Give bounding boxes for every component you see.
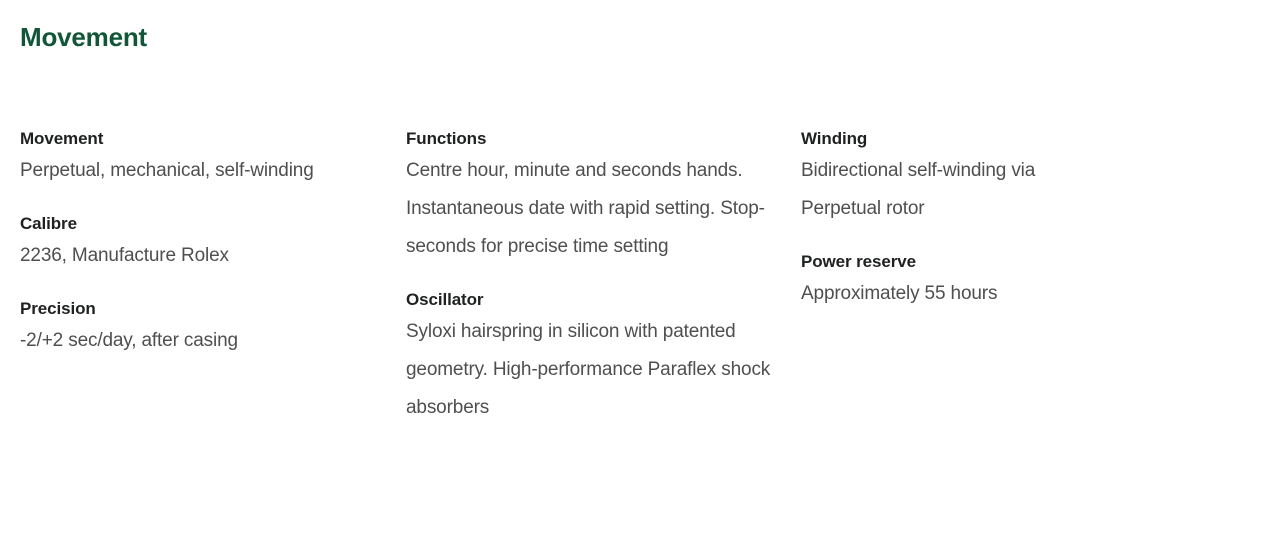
spec-label-functions: Functions <box>406 126 787 152</box>
spec-group-functions: Functions Centre hour, minute and second… <box>406 126 787 266</box>
spec-group-precision: Precision -2/+2 sec/day, after casing <box>20 296 393 360</box>
spec-label-movement: Movement <box>20 126 393 152</box>
spec-column-1: Movement Perpetual, mechanical, self-win… <box>0 126 393 360</box>
spec-value-power-reserve: Approximately 55 hours <box>801 275 1131 313</box>
spec-value-oscillator: Syloxi hairspring in silicon with patent… <box>406 313 772 427</box>
movement-specifications-panel: Movement Movement Perpetual, mechanical,… <box>0 0 1267 551</box>
spec-label-calibre: Calibre <box>20 211 393 237</box>
spec-value-functions: Centre hour, minute and seconds hands. I… <box>406 152 772 266</box>
spec-group-calibre: Calibre 2236, Manufacture Rolex <box>20 211 393 275</box>
spec-group-winding: Winding Bidirectional self-winding via P… <box>801 126 1267 228</box>
spec-label-oscillator: Oscillator <box>406 287 787 313</box>
specification-columns: Movement Perpetual, mechanical, self-win… <box>0 126 1267 427</box>
spec-value-calibre: 2236, Manufacture Rolex <box>20 237 380 275</box>
spec-label-winding: Winding <box>801 126 1267 152</box>
spec-label-power-reserve: Power reserve <box>801 249 1267 275</box>
spec-group-oscillator: Oscillator Syloxi hairspring in silicon … <box>406 287 787 427</box>
spec-column-2: Functions Centre hour, minute and second… <box>393 126 787 427</box>
page-title: Movement <box>20 21 147 53</box>
spec-value-movement: Perpetual, mechanical, self-winding <box>20 152 380 190</box>
spec-group-movement: Movement Perpetual, mechanical, self-win… <box>20 126 393 190</box>
spec-column-3: Winding Bidirectional self-winding via P… <box>787 126 1267 313</box>
spec-label-precision: Precision <box>20 296 393 322</box>
spec-group-power-reserve: Power reserve Approximately 55 hours <box>801 249 1267 313</box>
spec-value-precision: -2/+2 sec/day, after casing <box>20 322 380 360</box>
spec-value-winding: Bidirectional self-winding via Perpetual… <box>801 152 1101 228</box>
